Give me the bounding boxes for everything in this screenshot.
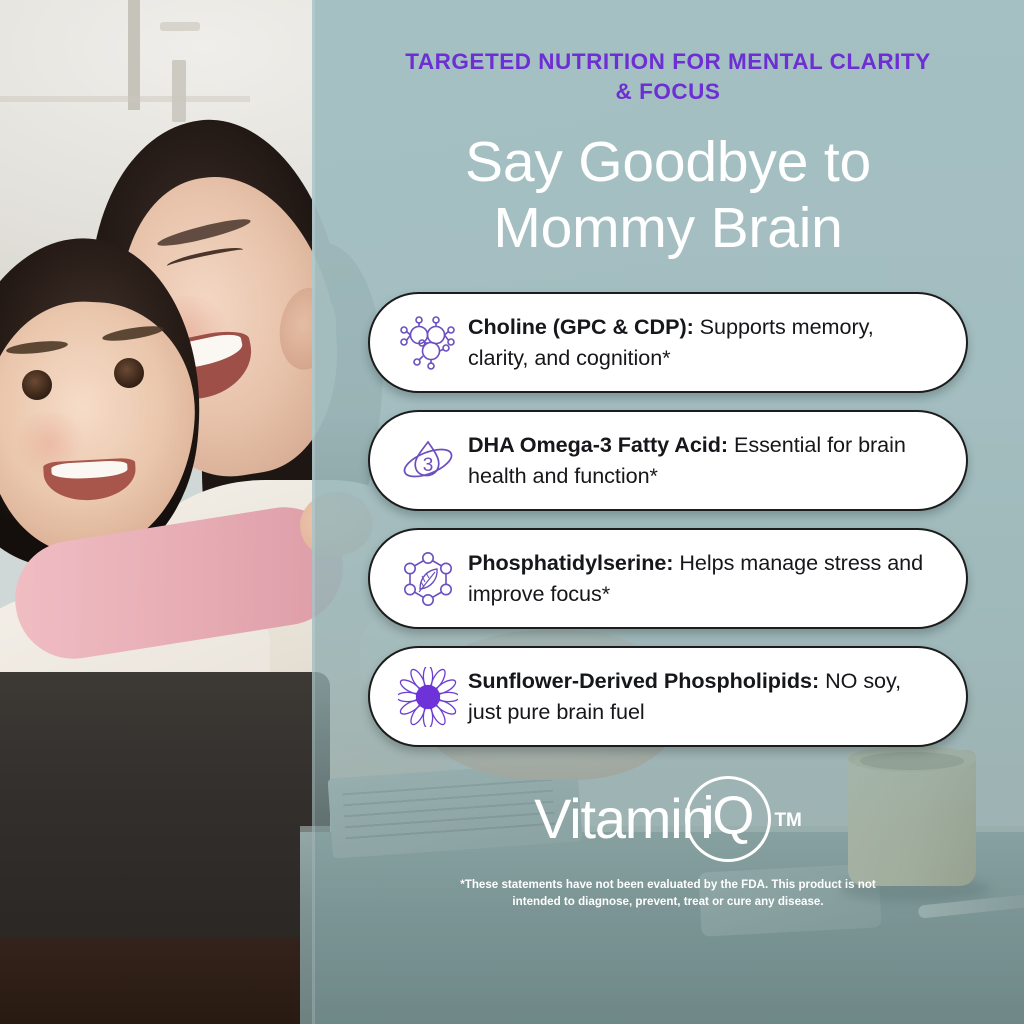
headline-line-1: Say Goodbye to	[465, 130, 871, 194]
child-eye	[114, 358, 144, 388]
benefit-pill-sunflower-phospholipids[interactable]: Sunflower-Derived Phospholipids: NO soy,…	[368, 646, 968, 747]
benefits-list: Choline (GPC & CDP): Supports memory, cl…	[312, 292, 1024, 764]
benefit-title: DHA Omega-3 Fatty Acid:	[468, 432, 728, 457]
omega-3-number: 3	[423, 455, 434, 476]
eyebrow-text: TARGETED NUTRITION FOR MENTAL CLARITY & …	[398, 47, 938, 107]
benefit-text: Phosphatidylserine: Helps manage stress …	[464, 548, 940, 608]
brand-logo: Vitamin iQ TM	[312, 776, 1024, 862]
benefit-title: Sunflower-Derived Phospholipids:	[468, 668, 819, 693]
benefit-pill-choline[interactable]: Choline (GPC & CDP): Supports memory, cl…	[368, 292, 968, 393]
wall-detail	[0, 96, 250, 102]
child-teeth	[51, 460, 128, 480]
fda-disclaimer: *These statements have not been evaluate…	[453, 877, 883, 911]
omega-3-droplet-icon: 3	[392, 425, 464, 497]
benefit-title: Phosphatidylserine:	[468, 550, 673, 575]
benefit-pill-dha-omega-3[interactable]: 3 DHA Omega-3 Fatty Acid: Essential for …	[368, 410, 968, 511]
logo-iq-text: iQ	[702, 789, 752, 843]
wall-detail	[160, 22, 200, 31]
content-panel: TARGETED NUTRITION FOR MENTAL CLARITY & …	[312, 0, 1024, 1024]
benefit-text: Sunflower-Derived Phospholipids: NO soy,…	[464, 666, 940, 726]
molecule-icon	[392, 307, 464, 379]
laptop-lid	[0, 672, 330, 942]
wall-detail	[172, 60, 186, 122]
trademark-symbol: TM	[774, 810, 801, 832]
logo-circle-mark: iQ	[685, 776, 771, 862]
benefit-title: Choline (GPC & CDP):	[468, 314, 694, 339]
page-title: Say Goodbye to Mommy Brain	[358, 129, 978, 261]
sunflower-icon	[392, 661, 464, 733]
headline-line-2: Mommy Brain	[493, 196, 842, 260]
wooden-table	[0, 938, 340, 1024]
wall-detail	[128, 0, 140, 110]
benefit-text: Choline (GPC & CDP): Supports memory, cl…	[464, 312, 940, 372]
benefit-text: DHA Omega-3 Fatty Acid: Essential for br…	[464, 430, 940, 490]
promotional-poster: TARGETED NUTRITION FOR MENTAL CLARITY & …	[0, 0, 1024, 1024]
hexagon-leaf-icon	[392, 543, 464, 615]
benefit-pill-phosphatidylserine[interactable]: Phosphatidylserine: Helps manage stress …	[368, 528, 968, 629]
child-eye	[22, 370, 52, 400]
